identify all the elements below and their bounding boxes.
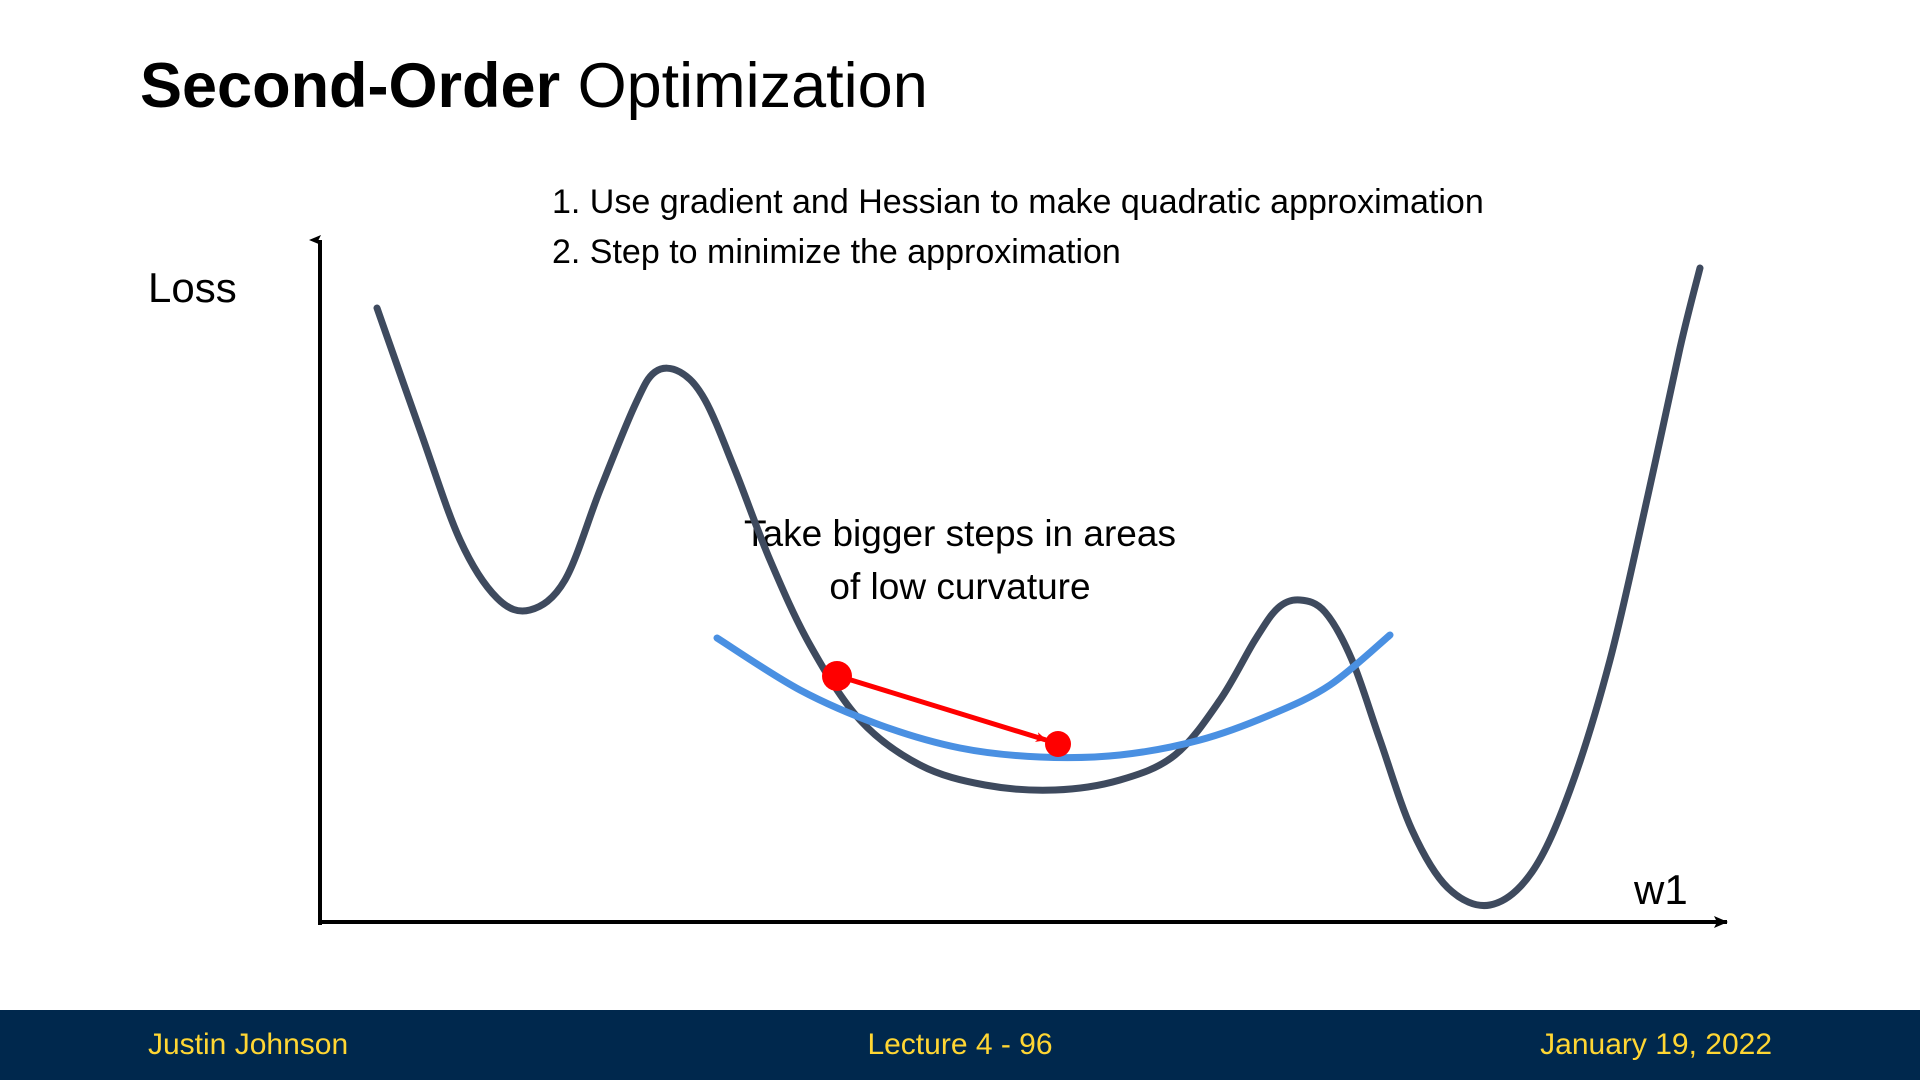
annotation-line-1: Take bigger steps in areas xyxy=(700,508,1220,561)
start-point xyxy=(822,661,852,691)
x-axis-label: w1 xyxy=(1634,866,1688,914)
chart-annotations xyxy=(822,661,1071,757)
step-item-2: 2. Step to minimize the approximation xyxy=(552,228,1484,278)
step-arrow xyxy=(838,676,1046,740)
page-title: Second-Order Optimization xyxy=(140,52,928,121)
y-axis-label: Loss xyxy=(148,264,237,312)
curvature-annotation: Take bigger steps in areas of low curvat… xyxy=(700,508,1220,613)
slide-canvas: Second-Order Optimization 1. Use gradien… xyxy=(0,0,1920,1080)
end-point xyxy=(1045,731,1071,757)
footer-date: January 19, 2022 xyxy=(1540,1028,1772,1062)
curve-quadratic-approximation xyxy=(717,635,1390,758)
title-regular-part: Optimization xyxy=(560,51,928,121)
annotation-line-2: of low curvature xyxy=(700,561,1220,614)
loss-landscape-chart xyxy=(0,0,1920,1010)
slide-footer: Justin Johnson Lecture 4 - 96 January 19… xyxy=(0,1010,1920,1080)
title-bold-part: Second-Order xyxy=(140,51,560,121)
step-item-1: 1. Use gradient and Hessian to make quad… xyxy=(552,178,1484,228)
steps-list: 1. Use gradient and Hessian to make quad… xyxy=(552,178,1484,277)
